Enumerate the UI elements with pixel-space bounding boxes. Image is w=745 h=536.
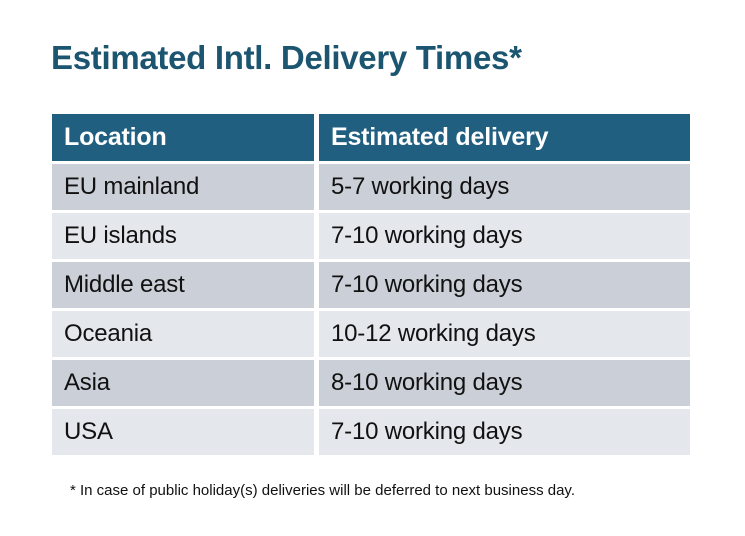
footnote: * In case of public holiday(s) deliverie…	[70, 481, 575, 501]
cell-delivery: 7-10 working days	[319, 213, 690, 259]
table-row: Middle east 7-10 working days	[52, 262, 690, 308]
table-row: USA 7-10 working days	[52, 409, 690, 455]
table-row: Asia 8-10 working days	[52, 360, 690, 406]
delivery-times-page: Estimated Intl. Delivery Times* Location…	[0, 0, 745, 536]
delivery-times-table: Location Estimated delivery EU mainland …	[52, 114, 690, 455]
cell-location: EU mainland	[52, 164, 314, 210]
column-header-location: Location	[52, 114, 314, 161]
table-header-row: Location Estimated delivery	[52, 114, 690, 161]
cell-location: Middle east	[52, 262, 314, 308]
cell-location: Asia	[52, 360, 314, 406]
table-row: Oceania 10-12 working days	[52, 311, 690, 357]
cell-delivery: 7-10 working days	[319, 262, 690, 308]
table-row: EU mainland 5-7 working days	[52, 164, 690, 210]
cell-delivery: 7-10 working days	[319, 409, 690, 455]
cell-delivery: 10-12 working days	[319, 311, 690, 357]
cell-location: EU islands	[52, 213, 314, 259]
cell-location: Oceania	[52, 311, 314, 357]
cell-delivery: 5-7 working days	[319, 164, 690, 210]
table-row: EU islands 7-10 working days	[52, 213, 690, 259]
cell-delivery: 8-10 working days	[319, 360, 690, 406]
column-header-estimated-delivery: Estimated delivery	[319, 114, 690, 161]
cell-location: USA	[52, 409, 314, 455]
page-title: Estimated Intl. Delivery Times*	[51, 36, 522, 80]
